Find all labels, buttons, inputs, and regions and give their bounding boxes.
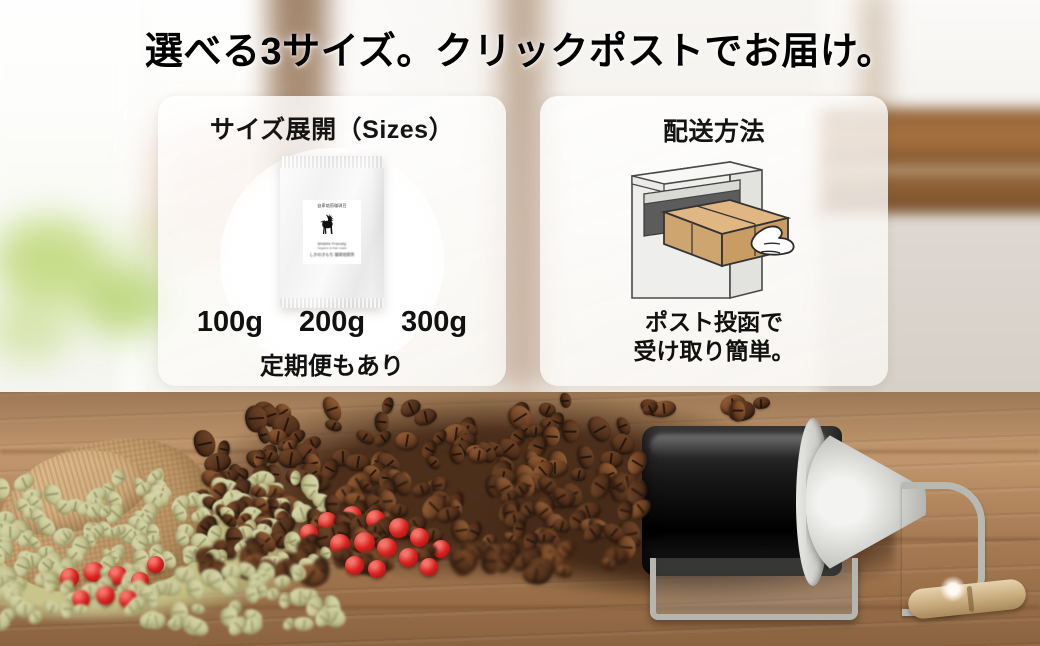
coffee-cherry xyxy=(410,528,429,547)
coffee-cherry xyxy=(389,518,409,538)
shipping-caption-line1: ポスト投函で xyxy=(540,308,888,337)
deer-silhouette-icon xyxy=(317,211,347,241)
coffee-cherry xyxy=(96,586,115,605)
weight-options: 100g 200g 300g xyxy=(158,306,506,339)
subscription-note: 定期便もあり xyxy=(158,346,506,381)
shipping-caption: ポスト投函で 受け取り簡単。 xyxy=(540,308,888,366)
coffee-cherry xyxy=(147,556,164,573)
coffee-bag-image: 自家焙煎珈琲豆 Wildlife Friendly Organic & Fair… xyxy=(280,156,384,308)
bag-top-seam xyxy=(280,156,384,168)
page-title: 選べる3サイズ。クリックポストでお届け。 xyxy=(0,20,1040,75)
coffee-bean xyxy=(394,431,418,450)
card-shipping-title: 配送方法 xyxy=(540,112,888,148)
hand-roaster-icon xyxy=(620,408,930,623)
weight-option-300g: 300g xyxy=(401,306,467,339)
coffee-cherry xyxy=(420,558,438,576)
roaster-stand xyxy=(650,558,858,620)
coffee-cherry xyxy=(354,532,375,553)
coffee-bean xyxy=(522,564,550,584)
card-sizes-title: サイズ展開（Sizes） xyxy=(158,110,506,146)
weight-option-100g: 100g xyxy=(197,306,263,339)
coffee-cherry xyxy=(368,560,386,578)
mailbox-delivery-icon xyxy=(612,148,822,306)
coffee-cherry xyxy=(399,548,418,567)
bag-label-script-sub: Organic & Fair trade xyxy=(317,246,346,250)
bag-label-top-text: 自家焙煎珈琲豆 xyxy=(317,203,346,209)
bag-label: 自家焙煎珈琲豆 Wildlife Friendly Organic & Fair… xyxy=(303,200,361,264)
shipping-caption-line2: 受け取り簡単。 xyxy=(540,337,888,366)
bag-label-brand: しかのきもち 珈琲焙煎所 xyxy=(310,252,355,258)
weight-option-200g: 200g xyxy=(299,306,365,339)
banner-stage: 選べる3サイズ。クリックポストでお届け。 サイズ展開（Sizes） 自家焙煎珈琲… xyxy=(0,0,1040,646)
coffee-cherry xyxy=(345,556,364,575)
card-sizes: サイズ展開（Sizes） 自家焙煎珈琲豆 Wildlife Friendly O… xyxy=(158,96,506,386)
card-shipping: 配送方法 ポスト投函で 受け取り簡単。 xyxy=(540,96,888,386)
